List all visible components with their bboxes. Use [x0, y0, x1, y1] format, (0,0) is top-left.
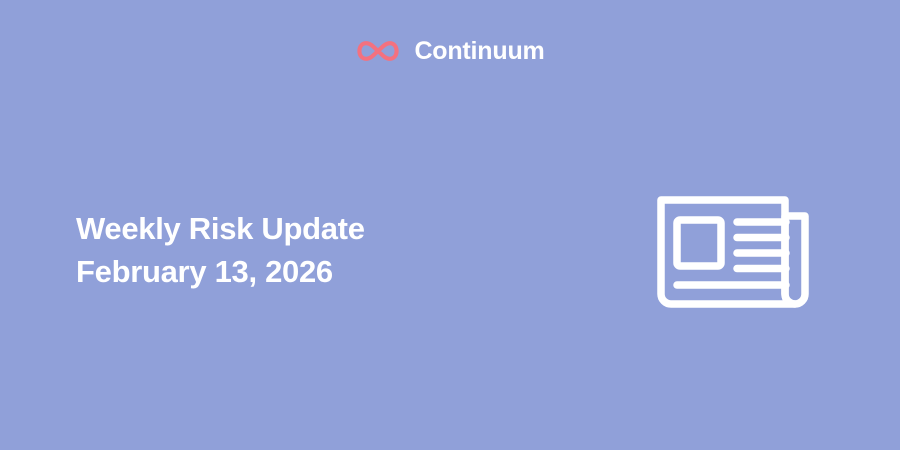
- infinity-icon: [355, 38, 401, 64]
- brand-lockup: Continuum: [0, 38, 900, 64]
- title-line-1: Weekly Risk Update: [76, 207, 616, 250]
- page-title: Weekly Risk Update February 13, 2026: [76, 207, 616, 293]
- newspaper-illustration: [653, 190, 823, 310]
- title-line-2: February 13, 2026: [76, 250, 616, 293]
- title-slide: Continuum Weekly Risk Update February 13…: [0, 0, 900, 450]
- newspaper-icon: [653, 190, 823, 310]
- brand-name: Continuum: [414, 39, 544, 64]
